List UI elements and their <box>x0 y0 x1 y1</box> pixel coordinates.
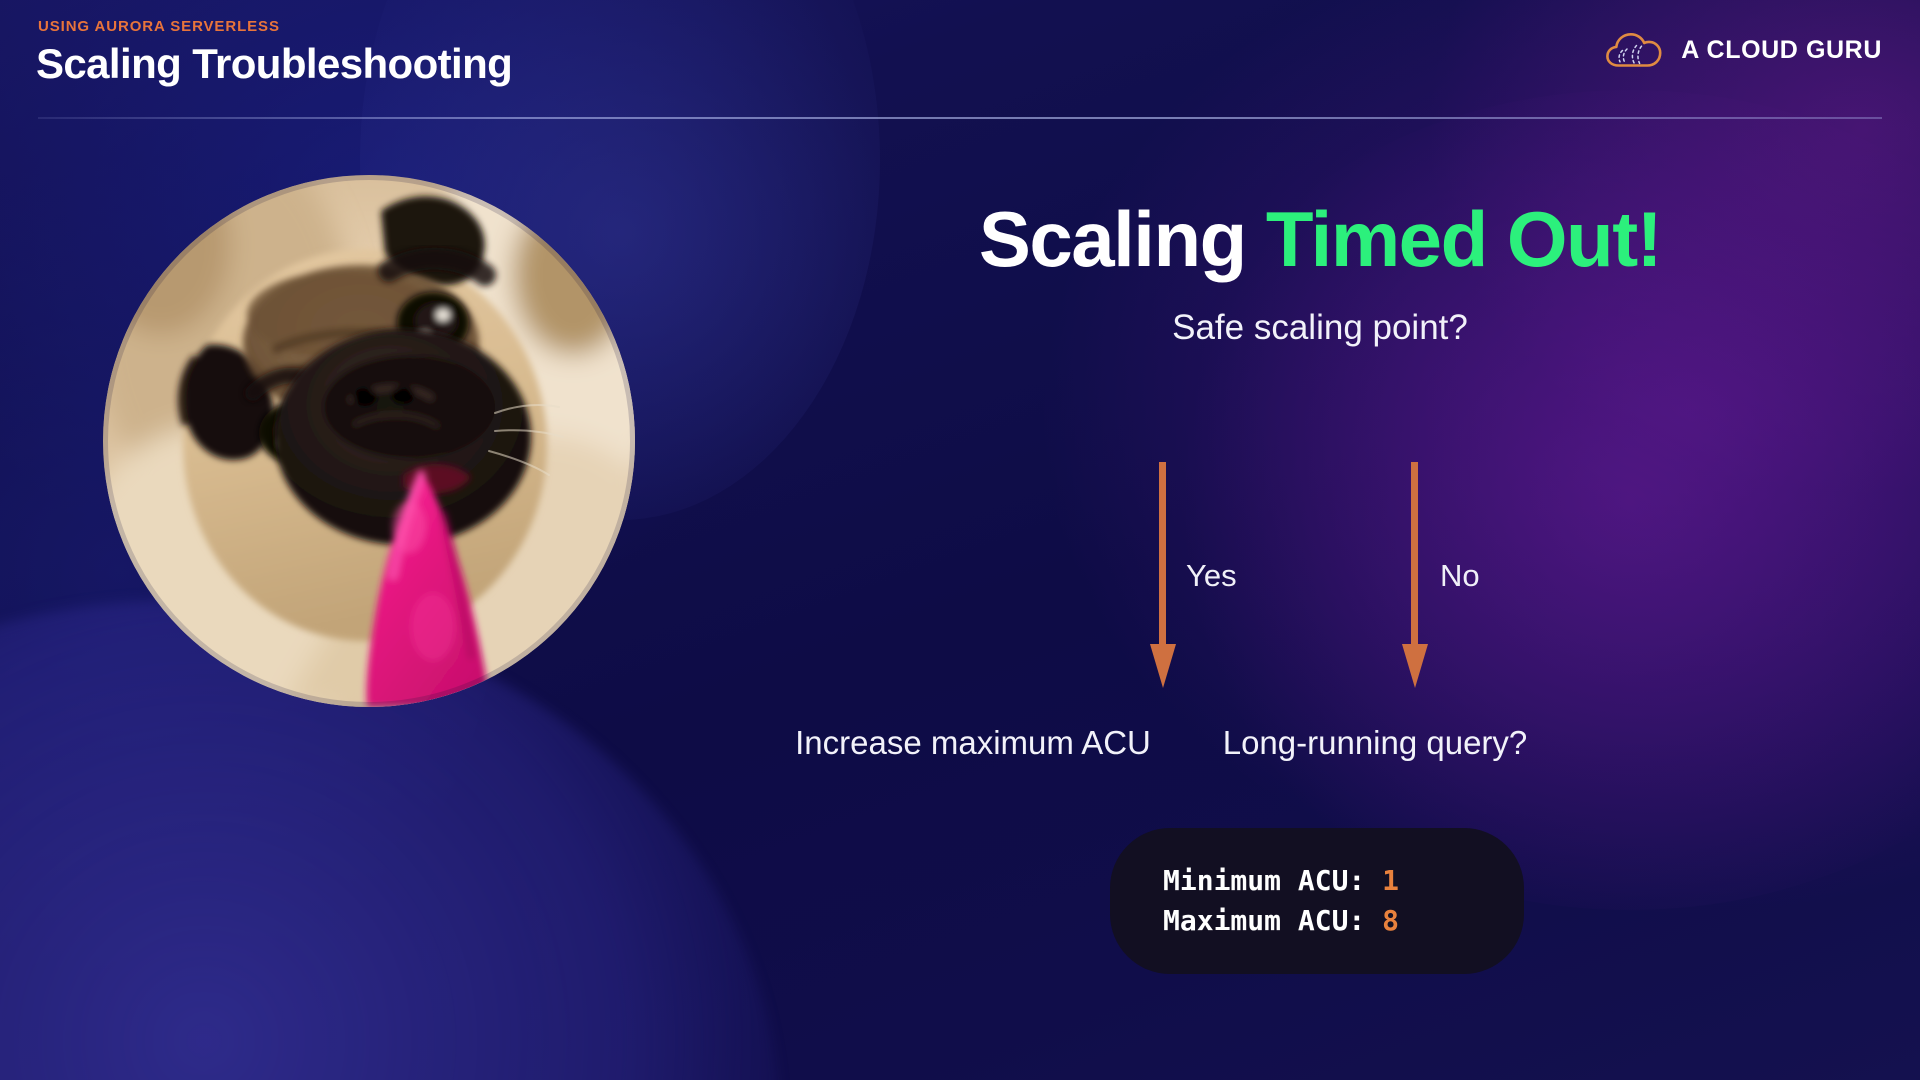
headline-part-one: Scaling <box>979 195 1246 283</box>
down-arrow-icon-yes <box>1150 462 1176 688</box>
decision-question: Safe scaling point? <box>760 308 1880 348</box>
code-line-maximum: Maximum ACU: 8 <box>1163 901 1524 941</box>
pug-photo <box>103 175 635 707</box>
branch-label-no: No <box>1440 558 1480 594</box>
cloud-icon <box>1605 30 1667 70</box>
slide-root: USING AURORA SERVERLESS Scaling Troubles… <box>0 0 1920 1080</box>
code-line-minimum: Minimum ACU: 1 <box>1163 861 1524 901</box>
brand-logo: A CLOUD GURU <box>1605 28 1882 72</box>
code-key-minimum: Minimum ACU: <box>1163 864 1382 897</box>
branch-label-yes: Yes <box>1186 558 1237 594</box>
page-title: Scaling Troubleshooting <box>36 40 512 88</box>
slide-header: USING AURORA SERVERLESS Scaling Troubles… <box>0 0 1920 120</box>
brand-name: A CLOUD GURU <box>1681 36 1882 65</box>
header-eyebrow: USING AURORA SERVERLESS <box>38 18 280 35</box>
branch-outcome-no: Long-running query? <box>1085 724 1665 762</box>
main-headline: Scaling Timed Out! <box>760 200 1880 278</box>
code-key-maximum: Maximum ACU: <box>1163 904 1382 937</box>
headline-part-two: Timed Out! <box>1266 195 1661 283</box>
headline-space <box>1246 195 1266 283</box>
acu-config-box: Minimum ACU: 1 Maximum ACU: 8 <box>1110 828 1524 974</box>
header-divider <box>38 117 1882 119</box>
code-value-maximum: 8 <box>1382 904 1399 937</box>
down-arrow-icon-no <box>1402 462 1428 688</box>
code-value-minimum: 1 <box>1382 864 1399 897</box>
